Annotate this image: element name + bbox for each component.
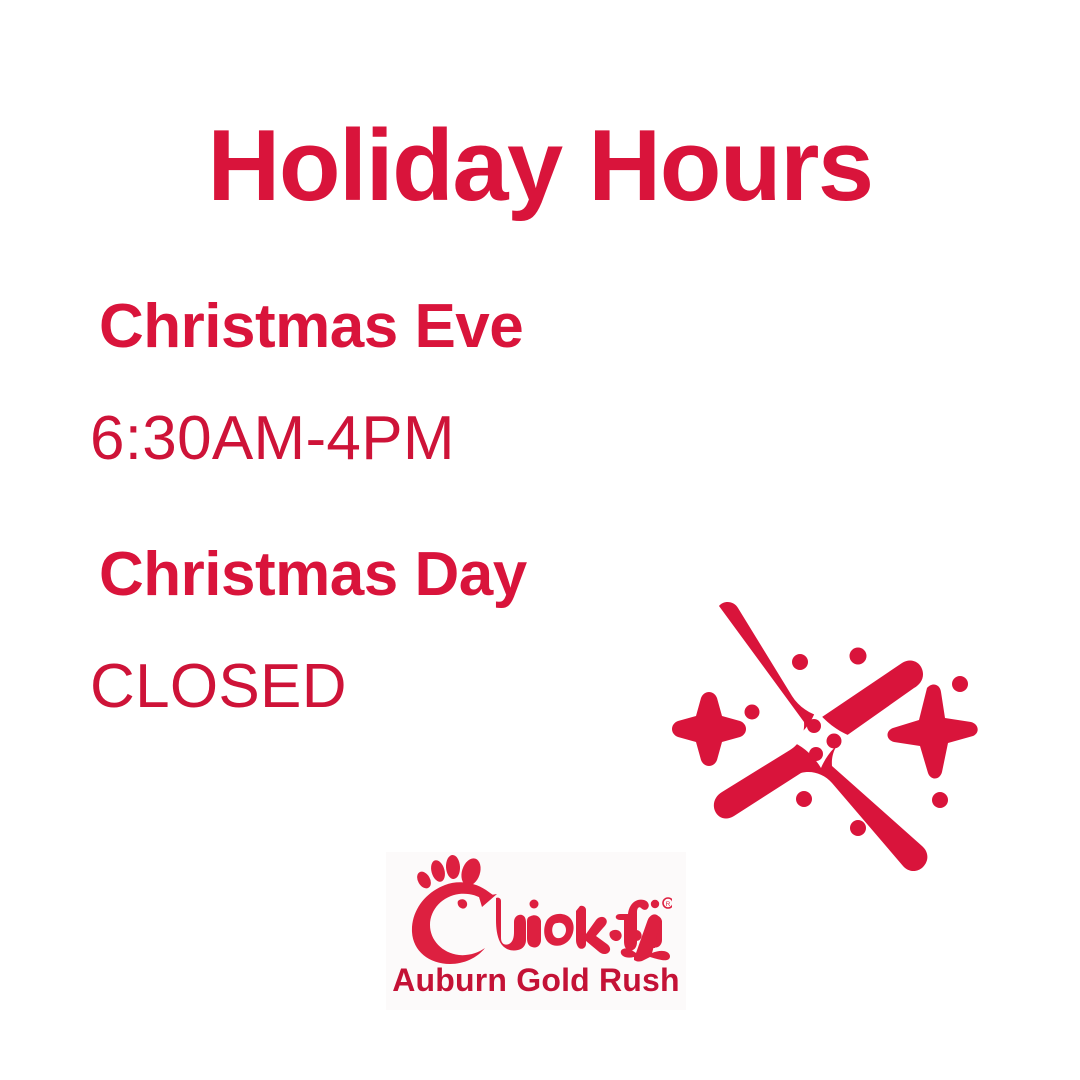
svg-text:R: R: [666, 901, 671, 908]
store-location-label: Auburn Gold Rush: [392, 964, 680, 996]
hours-entry-value: CLOSED: [88, 656, 708, 718]
hours-entry-value: 6:30AM-4PM: [88, 408, 708, 470]
hours-entry-label: Christmas Day: [88, 544, 708, 606]
brand-logo-lockup: R Auburn Gold Rush: [386, 852, 686, 1010]
chick-fil-a-logo-icon: R: [400, 854, 672, 966]
sparkle-star-icon: [664, 578, 994, 878]
page-title: Holiday Hours: [0, 112, 1080, 221]
hours-entry-spacer: [88, 472, 708, 544]
poster-canvas: Holiday Hours Christmas Eve 6:30AM-4PM C…: [0, 0, 1080, 1080]
hours-entry-christmas-eve: Christmas Eve 6:30AM-4PM: [88, 296, 708, 470]
hours-entry-label: Christmas Eve: [88, 296, 708, 358]
holiday-hours-list: Christmas Eve 6:30AM-4PM Christmas Day C…: [88, 296, 708, 720]
hours-entry-christmas-day: Christmas Day CLOSED: [88, 544, 708, 718]
